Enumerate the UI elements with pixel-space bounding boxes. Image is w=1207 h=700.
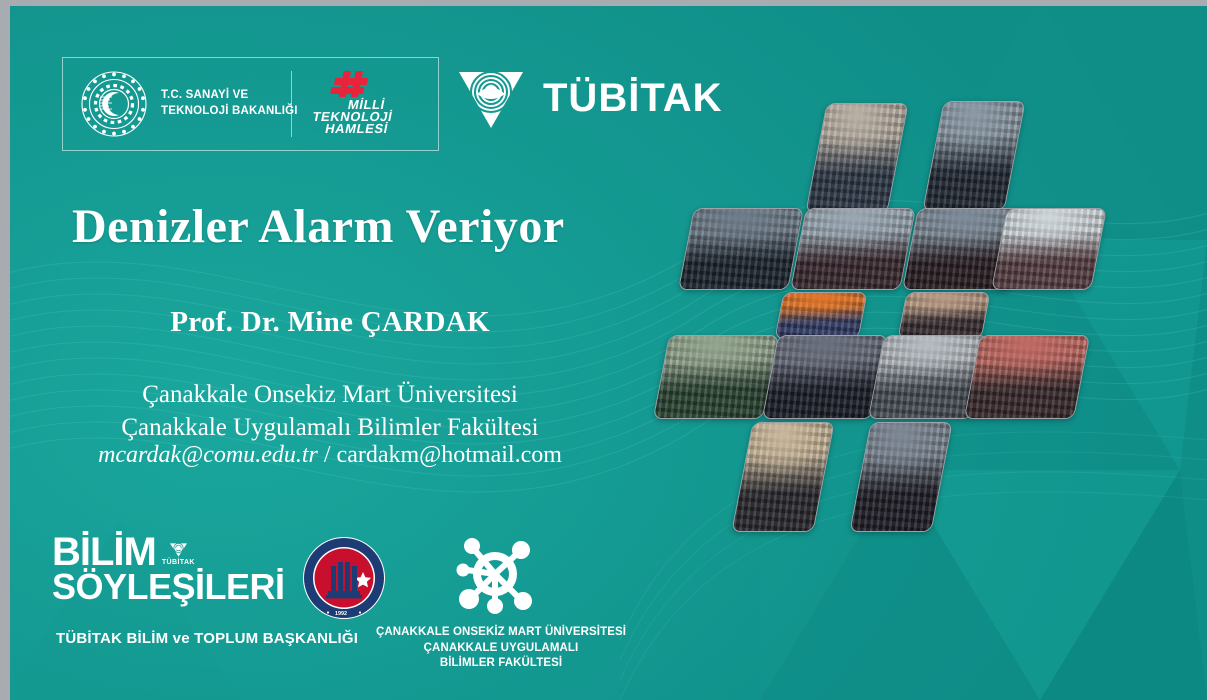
ministry-logo: T.C. SANAYİ VE TEKNOLOJİ BAKANLIĞI: [63, 69, 291, 139]
photo-thumbnail: [964, 335, 1090, 419]
photo-large-ballroom-crowd: [731, 422, 834, 532]
affiliation: Çanakkale Onsekiz Mart Üniversitesi Çana…: [0, 378, 660, 444]
photo-collage: [650, 95, 1120, 545]
faculty-caption-line-3: BİLİMLER FAKÜLTESİ: [370, 656, 632, 672]
tubitak-wordmark: TÜBİTAK: [543, 76, 723, 121]
bilim-tubitak-mini-mark: TÜBİTAK: [162, 541, 195, 566]
svg-text:HAMLESİ: HAMLESİ: [324, 121, 390, 136]
faculty-caption-line-1: ÇANAKKALE ONSEKİZ MART ÜNİVERSİTESİ: [370, 625, 632, 641]
photo-auditorium-speaker-stage: [805, 103, 908, 213]
photo-thumbnail: [991, 208, 1107, 290]
photo-thumbnail: [790, 208, 916, 290]
page-title: Denizler Alarm Veriyor: [72, 199, 565, 254]
bilim-soylesileri-logo: BİLİM TÜBİTAK SÖYLEŞİLERİ: [52, 533, 285, 605]
photo-thumbnail: [851, 422, 951, 532]
photo-red-wall-classroom: [964, 335, 1090, 419]
bilim-mini-mark-label: TÜBİTAK: [162, 559, 195, 566]
milli-teknoloji-hamlesi-logo: MİLLİ TEKNOLOJİ HAMLESİ: [292, 69, 438, 139]
hashtag-icon: [330, 71, 370, 97]
photo-hall-flag-audience: [922, 101, 1025, 211]
ministry-line-2: TEKNOLOJİ BAKANLIĞI: [161, 105, 298, 117]
photo-thumbnail: [774, 292, 867, 339]
photo-conference-crowd-left: [678, 208, 804, 290]
page-edge-top: [0, 0, 1207, 6]
email-secondary[interactable]: cardakm@hotmail.com: [337, 442, 562, 468]
tubitak-triangle-icon: [455, 62, 527, 134]
ministry-logo-bar: T.C. SANAYİ VE TEKNOLOJİ BAKANLIĞI MİLLİ…: [62, 57, 439, 151]
tubitak-logo: TÜBİTAK: [455, 62, 723, 134]
seal-year: 1992: [335, 611, 347, 617]
soylesileri-word: SÖYLEŞİLERİ: [52, 569, 285, 605]
ministry-line-1: T.C. SANAYİ VE: [161, 89, 248, 101]
tubitak-department-caption: TÜBİTAK BİLİM ve TOPLUM BAŞKANLIĞI: [56, 630, 358, 647]
photo-thumbnail: [678, 208, 804, 290]
turkey-ministry-emblem-icon: [79, 69, 149, 139]
page-edge-left: [0, 0, 10, 700]
photo-green-uniform-hall: [653, 335, 779, 419]
contact-emails: mcardak@comu.edu.tr / cardakm@hotmail.co…: [0, 442, 660, 469]
photo-group-photo-students: [897, 292, 990, 339]
comu-university-seal-icon: 1992: [284, 536, 404, 620]
photo-thumbnail: [807, 103, 907, 213]
photo-thumbnail: [897, 292, 990, 339]
faculty-caption: ÇANAKKALE ONSEKİZ MART ÜNİVERSİTESİ ÇANA…: [370, 625, 632, 672]
photo-thumbnail: [653, 335, 779, 419]
faculty-caption-line-2: ÇANAKKALE UYGULAMALI: [370, 641, 632, 657]
photo-thumbnail: [924, 101, 1024, 211]
photo-group-orange-uniform: [774, 292, 867, 339]
tubitak-triangle-icon: [169, 541, 188, 558]
presentation-slide: T.C. SANAYİ VE TEKNOLOJİ BAKANLIĞI MİLLİ…: [0, 0, 1207, 700]
email-separator: /: [318, 442, 337, 468]
molecule-network-icon: [449, 530, 541, 616]
email-primary[interactable]: mcardak@comu.edu.tr: [98, 442, 318, 468]
photo-classroom-audience: [991, 208, 1107, 290]
speaker-name: Prof. Dr. Mine ÇARDAK: [0, 306, 660, 339]
photo-conference-hall-flags: [790, 208, 916, 290]
affiliation-line-2: Çanakkale Uygulamalı Bilimler Fakültesi: [0, 411, 660, 444]
photo-thumbnail: [733, 422, 833, 532]
photo-auditorium-projector-flag: [849, 422, 952, 532]
ministry-logo-text: T.C. SANAYİ VE TEKNOLOJİ BAKANLIĞI: [161, 88, 298, 119]
affiliation-line-1: Çanakkale Onsekiz Mart Üniversitesi: [0, 378, 660, 411]
